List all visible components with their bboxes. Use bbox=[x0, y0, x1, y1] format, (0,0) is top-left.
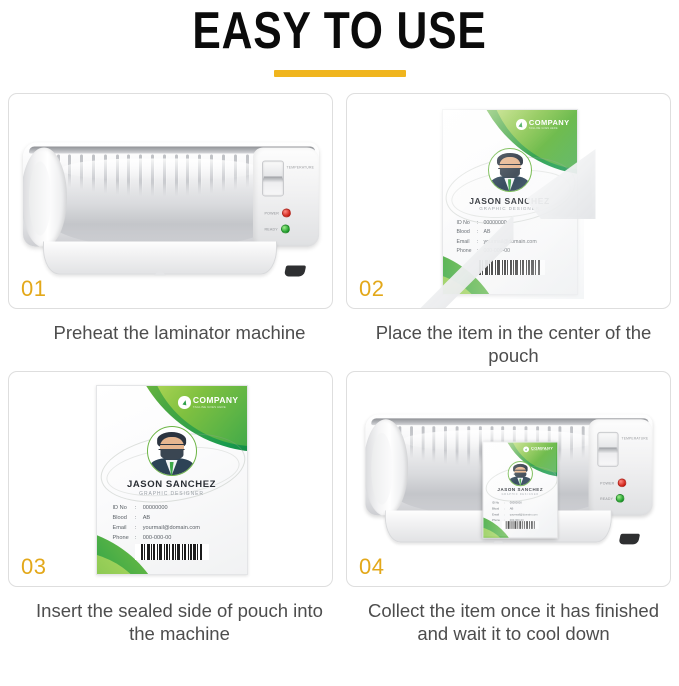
power-cord bbox=[283, 265, 305, 276]
company-logo: COMPANY TAGLINE GOES HERE bbox=[178, 396, 238, 409]
temperature-switch-label: TEMPERATURE bbox=[621, 437, 648, 441]
power-led-icon bbox=[282, 208, 291, 217]
field-label: Email bbox=[113, 525, 129, 531]
field-value: AB bbox=[143, 515, 200, 521]
field-label: ID No bbox=[457, 220, 472, 226]
laminator-control-panel[interactable]: TEMPERATURE POWER READY bbox=[588, 419, 652, 515]
field-separator: : bbox=[133, 525, 139, 531]
id-card: COMPANY TAGLINE GOES HERE JASON SANCHEZ … bbox=[482, 442, 558, 539]
step-01: TEMPERATURE POWER READY bbox=[8, 93, 333, 367]
step-03-number: 03 bbox=[21, 554, 46, 580]
field-label: Blood bbox=[113, 515, 129, 521]
card-holder-name: JASON SANCHEZ bbox=[483, 487, 557, 492]
field-label: Email bbox=[457, 239, 472, 245]
field-label: Phone bbox=[457, 248, 472, 254]
avatar bbox=[507, 461, 532, 486]
field-separator: : bbox=[475, 229, 481, 235]
step-04-number: 04 bbox=[359, 554, 384, 580]
card-fields: ID No : 00000000 Blood : AB Email : your… bbox=[492, 501, 537, 522]
step-01-caption: Preheat the laminator machine bbox=[14, 321, 327, 344]
laminator-end-cap bbox=[365, 419, 408, 515]
step-01-panel: TEMPERATURE POWER READY bbox=[8, 93, 333, 309]
ready-indicator: READY bbox=[265, 224, 290, 233]
avatar bbox=[488, 148, 532, 192]
logo-company-name: COMPANY bbox=[529, 119, 570, 127]
ready-led-icon bbox=[616, 494, 625, 503]
step-01-number: 01 bbox=[21, 276, 46, 302]
logo-arrow-icon bbox=[523, 446, 529, 452]
field-value: yourmail@domain.com bbox=[143, 525, 200, 531]
step-02-caption: Place the item in the center of the pouc… bbox=[352, 321, 665, 367]
logo-arrow-icon bbox=[516, 119, 527, 130]
field-value: yourmail@domain.com bbox=[509, 512, 537, 516]
id-card-standalone: COMPANY TAGLINE GOES HERE JASON SANCHEZ … bbox=[96, 385, 246, 573]
power-cord bbox=[618, 534, 640, 545]
field-separator: : bbox=[501, 507, 507, 511]
logo-tagline: TAGLINE GOES HERE bbox=[193, 406, 239, 409]
field-label: Phone bbox=[492, 518, 500, 522]
field-separator: : bbox=[133, 505, 139, 511]
avatar bbox=[147, 426, 197, 476]
ready-indicator-label: READY bbox=[265, 227, 278, 231]
field-value: 00000000 bbox=[509, 501, 537, 505]
temperature-switch[interactable] bbox=[597, 432, 618, 467]
barcode bbox=[501, 521, 538, 529]
field-label: Phone bbox=[113, 535, 129, 541]
laminator-control-panel[interactable]: TEMPERATURE POWER READY bbox=[253, 147, 319, 246]
power-led-icon bbox=[617, 478, 626, 487]
card-fields: ID No : 00000000 Blood : AB Email : your… bbox=[113, 505, 200, 541]
logo-tagline: TAGLINE GOES HERE bbox=[529, 128, 570, 131]
barcode bbox=[135, 544, 209, 560]
page-header: EASY TO USE bbox=[0, 0, 679, 77]
step-04-panel: TEMPERATURE POWER READY bbox=[346, 371, 671, 587]
field-label: Email bbox=[492, 512, 500, 516]
field-label: ID No bbox=[492, 501, 500, 505]
card-holder-role: GRAPHIC DESIGNER bbox=[97, 491, 247, 497]
title-underline-bar bbox=[274, 70, 406, 77]
power-indicator: POWER bbox=[600, 478, 626, 487]
field-separator: : bbox=[133, 535, 139, 541]
field-label: Blood bbox=[492, 507, 500, 511]
power-indicator-label: POWER bbox=[600, 481, 614, 485]
laminator-end-cap bbox=[23, 147, 67, 246]
step-03: COMPANY TAGLINE GOES HERE JASON SANCHEZ … bbox=[8, 371, 333, 645]
laminator-highlight bbox=[61, 158, 261, 180]
field-label: Blood bbox=[457, 229, 472, 235]
laminator-machine-with-card: TEMPERATURE POWER READY bbox=[365, 407, 652, 531]
card-holder-name: JASON SANCHEZ bbox=[97, 479, 247, 490]
step-04: TEMPERATURE POWER READY bbox=[346, 371, 671, 645]
step-02-number: 02 bbox=[359, 276, 384, 302]
ready-indicator-label: READY bbox=[600, 496, 613, 500]
laminator-tray bbox=[43, 241, 277, 274]
laminating-pouch: COMPANY TAGLINE GOES HERE JASON SANCHEZ … bbox=[434, 103, 584, 299]
tray-arrow-icon bbox=[154, 269, 166, 275]
step-02-panel: COMPANY TAGLINE GOES HERE JASON SANCHEZ … bbox=[346, 93, 671, 309]
logo-arrow-icon bbox=[178, 396, 191, 409]
step-02: COMPANY TAGLINE GOES HERE JASON SANCHEZ … bbox=[346, 93, 671, 367]
ejected-laminated-card: COMPANY TAGLINE GOES HERE JASON SANCHEZ … bbox=[482, 442, 556, 537]
logo-tagline: TAGLINE GOES HERE bbox=[531, 451, 553, 453]
field-value: AB bbox=[509, 507, 537, 511]
page-title: EASY TO USE bbox=[61, 4, 618, 58]
company-logo: COMPANY TAGLINE GOES HERE bbox=[516, 119, 570, 130]
card-holder-role: GRAPHIC DESIGNER bbox=[483, 493, 557, 496]
logo-company-name: COMPANY bbox=[193, 396, 239, 405]
temperature-switch[interactable] bbox=[262, 160, 284, 196]
field-separator: : bbox=[133, 515, 139, 521]
company-logo: COMPANY TAGLINE GOES HERE bbox=[523, 446, 553, 452]
ready-led-icon bbox=[281, 224, 290, 233]
field-separator: : bbox=[501, 512, 507, 516]
power-indicator: POWER bbox=[265, 208, 292, 217]
power-indicator-label: POWER bbox=[265, 211, 280, 215]
field-separator: : bbox=[475, 220, 481, 226]
laminator-body: TEMPERATURE POWER READY bbox=[23, 142, 319, 246]
laminator-machine: TEMPERATURE POWER READY bbox=[23, 134, 319, 262]
step-03-caption: Insert the sealed side of pouch into the… bbox=[14, 599, 327, 645]
field-value: 000-000-00 bbox=[143, 535, 200, 541]
temperature-switch-label: TEMPERATURE bbox=[287, 165, 315, 169]
id-card: COMPANY TAGLINE GOES HERE JASON SANCHEZ … bbox=[96, 385, 248, 575]
step-04-caption: Collect the item once it has finished an… bbox=[352, 599, 665, 645]
field-separator: : bbox=[475, 239, 481, 245]
ready-indicator: READY bbox=[600, 494, 625, 503]
field-separator: : bbox=[501, 501, 507, 505]
field-value: 00000000 bbox=[143, 505, 200, 511]
steps-grid: TEMPERATURE POWER READY bbox=[0, 93, 679, 645]
field-label: ID No bbox=[113, 505, 129, 511]
step-03-panel: COMPANY TAGLINE GOES HERE JASON SANCHEZ … bbox=[8, 371, 333, 587]
